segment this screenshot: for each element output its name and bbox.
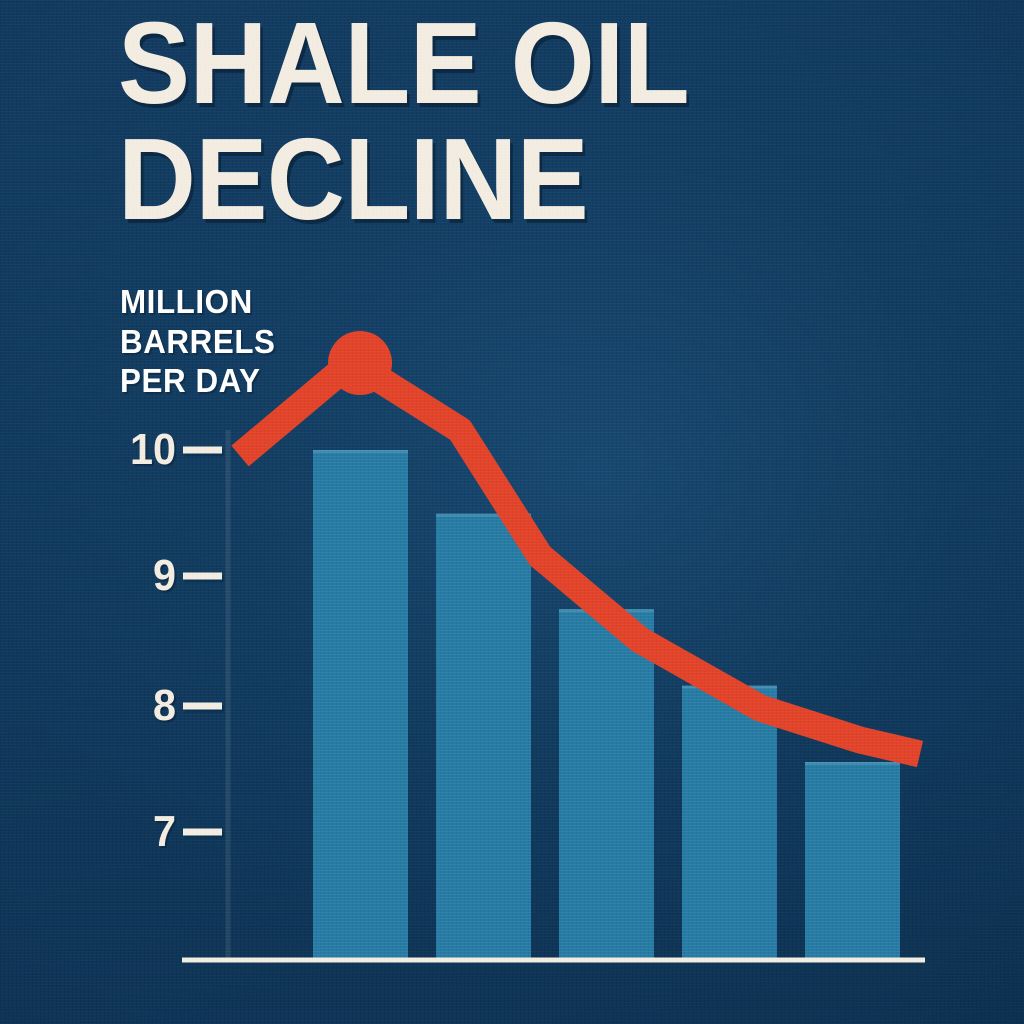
y-axis-tick-group bbox=[183, 450, 222, 832]
y-tick-label-7: 7 bbox=[63, 807, 176, 857]
bar-5-highlight bbox=[805, 762, 900, 765]
bar-group bbox=[313, 450, 900, 960]
bar-3 bbox=[559, 609, 654, 960]
y-tick-label-10: 10 bbox=[63, 425, 176, 475]
chart-plot-area: 10 9 8 7 bbox=[0, 0, 1024, 1024]
bar-4 bbox=[682, 686, 777, 960]
bar-2 bbox=[436, 514, 531, 960]
bar-1 bbox=[313, 450, 408, 960]
bar-5 bbox=[805, 762, 900, 960]
poster-canvas: SHALE OIL DECLINE MILLION BARRELS PER DA… bbox=[0, 0, 1024, 1024]
chart-svg bbox=[0, 0, 1024, 1024]
bar-1-highlight bbox=[313, 450, 408, 453]
peak-marker-dot bbox=[328, 331, 392, 395]
y-tick-label-8: 8 bbox=[63, 681, 176, 731]
y-tick-label-9: 9 bbox=[63, 551, 176, 601]
